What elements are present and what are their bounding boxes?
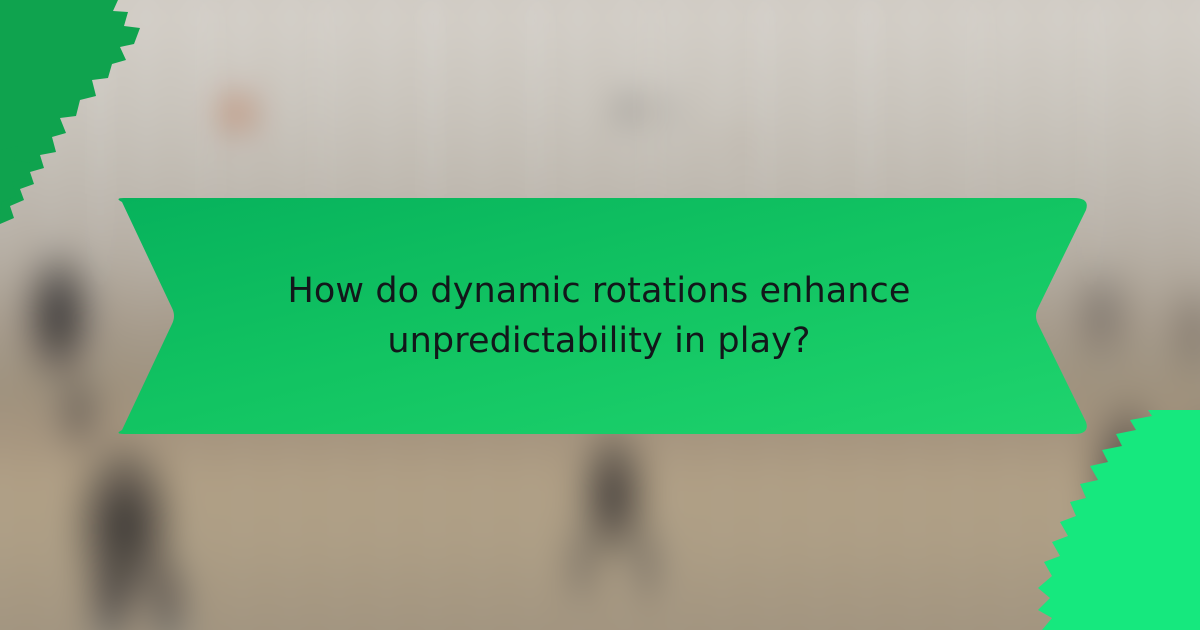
headline-line-1: How do dynamic rotations enhance [287, 266, 910, 316]
headline-line-2: unpredictability in play? [387, 316, 810, 366]
banner-text-block: How do dynamic rotations enhance unpredi… [108, 196, 1090, 436]
ribbon-banner: How do dynamic rotations enhance unpredi… [108, 196, 1090, 436]
share-card: How do dynamic rotations enhance unpredi… [0, 0, 1200, 630]
